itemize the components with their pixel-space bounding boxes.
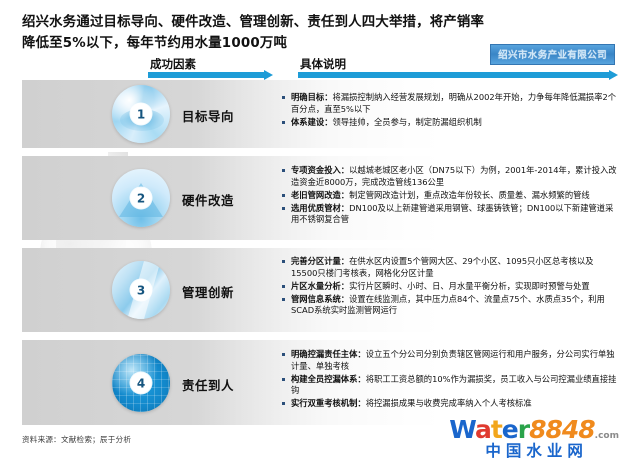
bullet-item: 明确控漏责任主体：设立五个分公司分别负责辖区管网运行和用户服务，分公司实行单独计…	[282, 349, 617, 372]
arrow-bar-left	[148, 72, 264, 78]
bullet-item: 实行双重考核机制：将控漏损成果与收费完成率纳入个人考核标准	[282, 398, 617, 410]
bullet-text: 领导挂帅，全员参与，制定防漏组织机制	[333, 117, 482, 127]
arrow-bar-right	[298, 72, 609, 78]
column-header-description: 具体说明	[300, 56, 346, 72]
watermark-letter-w: W	[449, 415, 475, 444]
source-note: 资料来源：文献检索；辰于分析	[22, 434, 131, 445]
factor-label-1: 目标导向	[182, 107, 234, 125]
bullet-text: 将控漏损成果与收费完成率纳入个人考核标准	[366, 398, 532, 408]
company-name-badge: 绍兴市水务产业有限公司	[490, 44, 615, 65]
bullet-marker-icon	[282, 402, 285, 405]
bullet-item: 选用优质管材：DN100及以上新建管道采用钢管、球墨铸铁管；DN100以下新建管…	[282, 203, 617, 226]
bullet-item: 构建全员控漏体系：将职工工资总额的10%作为漏损奖，员工收入与公司控漏业绩直接挂…	[282, 374, 617, 397]
watermark-chinese-name: 中国水业网	[449, 444, 619, 460]
bullet-term: 体系建设：	[291, 117, 333, 127]
bullet-marker-icon	[282, 353, 285, 356]
factor-number-4: 4	[131, 373, 152, 394]
factor-label-3: 管理创新	[182, 283, 234, 301]
factor-bullets-1: 明确目标：将漏损控制纳入经营发展规划，明确从2002年开始，力争每年降低漏损率2…	[282, 92, 617, 130]
bullet-text: 制定管网改造计划，重点改造年份较长、质量差、漏水频繁的管线	[349, 190, 590, 200]
bullet-term: 构建全员控漏体系：	[291, 374, 366, 384]
bullet-item: 管网信息系统：设置在线监测点，其中压力点84个、流量点75个、水质点35个，利用…	[282, 294, 617, 317]
watermark-digits: 8848	[529, 415, 595, 444]
watermark-letter-a: a	[475, 415, 491, 444]
bullet-marker-icon	[282, 194, 285, 197]
factor-label-2: 硬件改造	[182, 191, 234, 209]
watermark-letter-r: r	[518, 415, 529, 444]
bullet-item: 专项资金投入：以越城老城区老小区（DN75以下）为例，2001年-2014年，累…	[282, 165, 617, 188]
bullet-marker-icon	[282, 121, 285, 124]
bullet-marker-icon	[282, 207, 285, 210]
factor-bullets-2: 专项资金投入：以越城老城区老小区（DN75以下）为例，2001年-2014年，累…	[282, 165, 617, 227]
site-watermark: Water8848.com 中国水业网	[449, 417, 619, 460]
factor-bullets-4: 明确控漏责任主体：设立五个分公司分别负责辖区管网运行和用户服务，分公司实行单独计…	[282, 349, 617, 411]
watermark-wordmark: Water8848.com	[449, 417, 619, 442]
bullet-term: 实行双重考核机制：	[291, 398, 366, 408]
bullet-term: 片区水量分析：	[291, 281, 349, 291]
bullet-term: 完善分区计量：	[291, 256, 349, 266]
bullet-marker-icon	[282, 285, 285, 288]
factor-number-2: 2	[131, 188, 152, 209]
arrow-tip-left-icon	[264, 70, 273, 80]
watermark-tld: .com	[595, 431, 619, 441]
bullet-item: 明确目标：将漏损控制纳入经营发展规划，明确从2002年开始，力争每年降低漏损率2…	[282, 92, 617, 115]
bullet-term: 选用优质管材：	[291, 203, 349, 213]
arrow-tip-right-icon	[609, 70, 618, 80]
bullet-text: 实行片区瞬时、小时、日、月水量平衡分析，实现即时预警与处置	[349, 281, 590, 291]
factor-bullets-3: 完善分区计量：在供水区内设置5个管网大区、29个小区、1095只小区总考核以及1…	[282, 256, 617, 318]
page-title-line-1: 绍兴水务通过目标导向、硬件改造、管理创新、责任到人四大举措，将产销率	[22, 15, 484, 30]
factor-number-1: 1	[131, 104, 152, 125]
bullet-marker-icon	[282, 298, 285, 301]
factor-icon-2: 2	[112, 169, 170, 227]
bullet-marker-icon	[282, 96, 285, 99]
bullet-item: 体系建设：领导挂帅，全员参与，制定防漏组织机制	[282, 117, 617, 129]
bullet-term: 明确控漏责任主体：	[291, 349, 366, 359]
factor-label-4: 责任到人	[182, 376, 234, 394]
bullet-marker-icon	[282, 169, 285, 172]
watermark-letter-t: t	[491, 415, 502, 444]
bullet-term: 老旧管网改造：	[291, 190, 349, 200]
factor-icon-3: 3	[112, 261, 170, 319]
bullet-marker-icon	[282, 378, 285, 381]
bullet-term: 专项资金投入：	[291, 165, 349, 175]
bullet-text: 将漏损控制纳入经营发展规划，明确从2002年开始，力争每年降低漏损率2个百分点，…	[291, 92, 616, 114]
column-header-arrow-right	[298, 72, 618, 78]
bullet-term: 管网信息系统：	[291, 294, 349, 304]
factor-icon-1: 1	[112, 85, 170, 143]
bullet-item: 老旧管网改造：制定管网改造计划，重点改造年份较长、质量差、漏水频繁的管线	[282, 190, 617, 202]
bullet-term: 明确目标：	[291, 92, 333, 102]
bullet-marker-icon	[282, 260, 285, 263]
column-header-success-factors: 成功因素	[150, 56, 196, 72]
watermark-letter-e: e	[502, 415, 518, 444]
factor-icon-4: 4	[112, 354, 170, 412]
column-header-arrow-left	[148, 72, 273, 78]
factor-number-3: 3	[131, 280, 152, 301]
bullet-item: 完善分区计量：在供水区内设置5个管网大区、29个小区、1095只小区总考核以及1…	[282, 256, 617, 279]
bullet-item: 片区水量分析：实行片区瞬时、小时、日、月水量平衡分析，实现即时预警与处置	[282, 281, 617, 293]
